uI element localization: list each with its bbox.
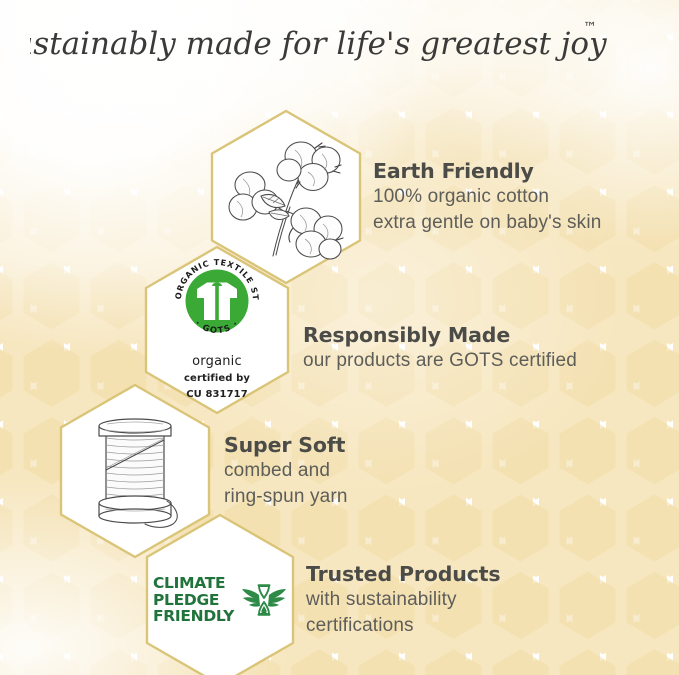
feature-title: Super Soft [224,433,348,458]
trademark-symbol: ™ [583,20,597,36]
headline-text: sustainably made for life's greatest joy [30,26,607,62]
feature-title: Responsibly Made [303,323,577,348]
feature-desc-line: combed and [224,458,348,483]
cotton-plant-icon [227,134,345,260]
gots-seal: GLOBAL ORGANIC TEXTILE STANDARD · GOTS · [171,255,263,347]
climate-pledge-friendly-icon: CLIMATE PLEDGE FRIENDLY [153,575,287,624]
cpf-line-3: FRIENDLY [153,608,234,624]
gots-certification-icon: GLOBAL ORGANIC TEXTILE STANDARD · GOTS ·… [171,255,263,401]
feature-text-responsibly-made: Responsibly Made our products are GOTS c… [303,323,577,373]
cpf-line-2: PLEDGE [153,592,234,608]
feature-title: Earth Friendly [373,159,601,184]
feature-desc-line: 100% organic cotton [373,184,601,209]
promo-image: sustainably made for life's greatest joy… [0,0,679,675]
feature-desc-line: extra gentle on baby's skin [373,210,601,235]
feature-desc-line: ring-spun yarn [224,484,348,509]
feature-desc-line: certifications [306,613,500,638]
gots-organic-label: organic [192,354,242,369]
feature-desc-line: our products are GOTS certified [303,348,577,373]
feature-title: Trusted Products [306,562,500,587]
hex-badge-climate-pledge: CLIMATE PLEDGE FRIENDLY [142,512,298,675]
feature-trusted-products: CLIMATE PLEDGE FRIENDLY [142,512,500,675]
feature-text-super-soft: Super Soft combed and ring-spun yarn [224,433,348,509]
feature-text-earth-friendly: Earth Friendly 100% organic cotton extra… [373,159,601,235]
cpf-line-1: CLIMATE [153,575,234,591]
feature-text-trusted-products: Trusted Products with sustainability cer… [306,562,500,638]
winged-hourglass-icon [241,580,287,620]
headline: sustainably made for life's greatest joy… [0,16,679,70]
headline-script-text: sustainably made for life's greatest joy… [30,16,650,70]
feature-desc-line: with sustainability [306,587,500,612]
climate-pledge-wordmark: CLIMATE PLEDGE FRIENDLY [153,575,234,624]
